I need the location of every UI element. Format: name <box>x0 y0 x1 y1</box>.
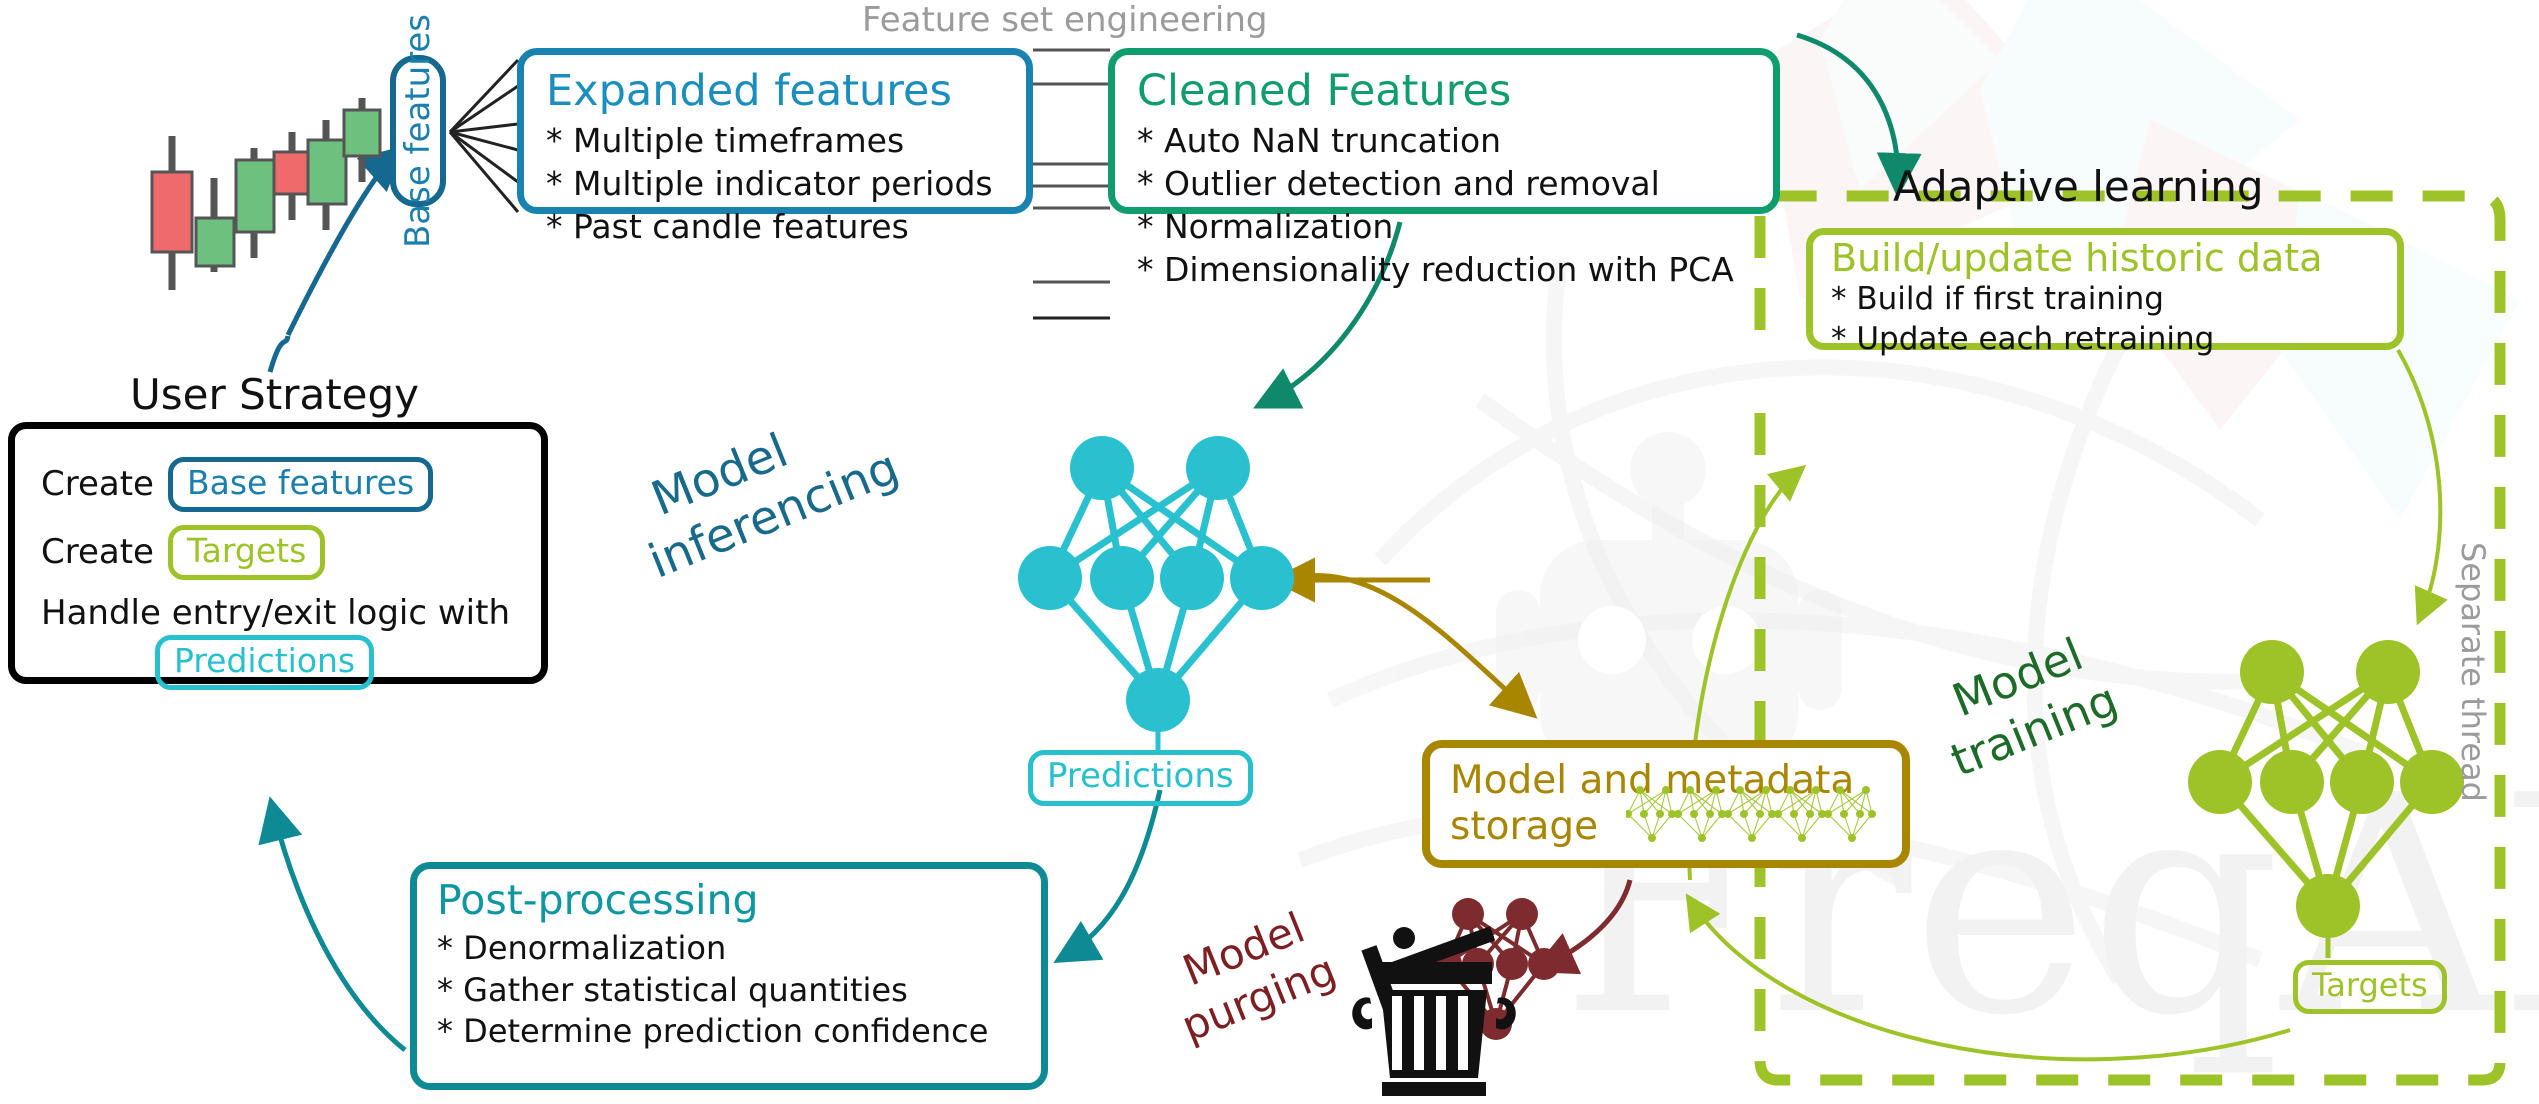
storage-line2: storage <box>1450 804 1598 849</box>
user-strategy-row-prefix: Create <box>41 532 154 572</box>
expanded-features-card: Expanded features * Multiple timeframes … <box>517 48 1033 214</box>
diagram-canvas: FreqAI <box>0 0 2539 1104</box>
user-strategy-row: Predictions <box>155 635 374 690</box>
user-strategy-title: User Strategy <box>130 370 419 419</box>
targets-chip[interactable]: Targets <box>2293 960 2447 1014</box>
cleaned-features-item: * Normalization <box>1137 206 1755 249</box>
cleaned-features-item: * Auto NaN truncation <box>1137 120 1755 163</box>
targets-chip[interactable]: Targets <box>168 525 325 580</box>
base-features-chip[interactable]: Base features <box>168 457 433 512</box>
user-strategy-row: Handle entry/exit logic with <box>41 593 510 633</box>
predictions-chip[interactable]: Predictions <box>1028 750 1253 806</box>
post-processing-card: Post-processing * Denormalization * Gath… <box>410 862 1048 1090</box>
base-features-pill-label: Base features <box>398 14 438 248</box>
base-features-pill[interactable]: Base features <box>390 55 446 207</box>
user-strategy-card: Create Base features Create Targets Hand… <box>8 422 548 684</box>
post-processing-item: * Gather statistical quantities <box>437 970 1023 1012</box>
user-strategy-row-prefix: Create <box>41 464 154 504</box>
separate-thread-label: Separate thread <box>2454 542 2492 802</box>
mini-network-icon <box>1626 780 1888 846</box>
expanded-features-item: * Multiple timeframes <box>546 120 1008 163</box>
post-processing-item: * Denormalization <box>437 928 1023 970</box>
user-strategy-row-prefix: Handle entry/exit logic with <box>41 593 510 633</box>
targets-chip-wrap: Targets <box>2293 960 2447 1014</box>
cleaned-features-item: * Dimensionality reduction with PCA <box>1137 249 1755 292</box>
build-update-title: Build/update historic data <box>1831 239 2383 279</box>
cleaned-features-card: Cleaned Features * Auto NaN truncation *… <box>1108 48 1780 214</box>
build-update-item: * Build if first training <box>1831 279 2383 319</box>
adaptive-learning-title: Adaptive learning <box>1893 162 2264 211</box>
expanded-features-title: Expanded features <box>546 69 1008 114</box>
predictions-chip[interactable]: Predictions <box>155 635 374 690</box>
build-update-item: * Update each retraining <box>1831 319 2383 359</box>
feature-set-engineering-label: Feature set engineering <box>862 0 1268 40</box>
user-strategy-row: Create Targets <box>41 525 325 580</box>
post-processing-title: Post-processing <box>437 879 1023 922</box>
post-processing-item: * Determine prediction confidence <box>437 1011 1023 1053</box>
user-strategy-row: Create Base features <box>41 457 433 512</box>
model-metadata-storage-card: Model and metadata storage <box>1422 740 1910 868</box>
cleaned-features-title: Cleaned Features <box>1137 69 1755 114</box>
build-update-historic-data-card: Build/update historic data * Build if fi… <box>1806 228 2404 350</box>
expanded-features-item: * Multiple indicator periods <box>546 163 1008 206</box>
predictions-chip-wrap: Predictions <box>1028 750 1253 806</box>
cleaned-features-item: * Outlier detection and removal <box>1137 163 1755 206</box>
expanded-features-item: * Past candle features <box>546 206 1008 249</box>
